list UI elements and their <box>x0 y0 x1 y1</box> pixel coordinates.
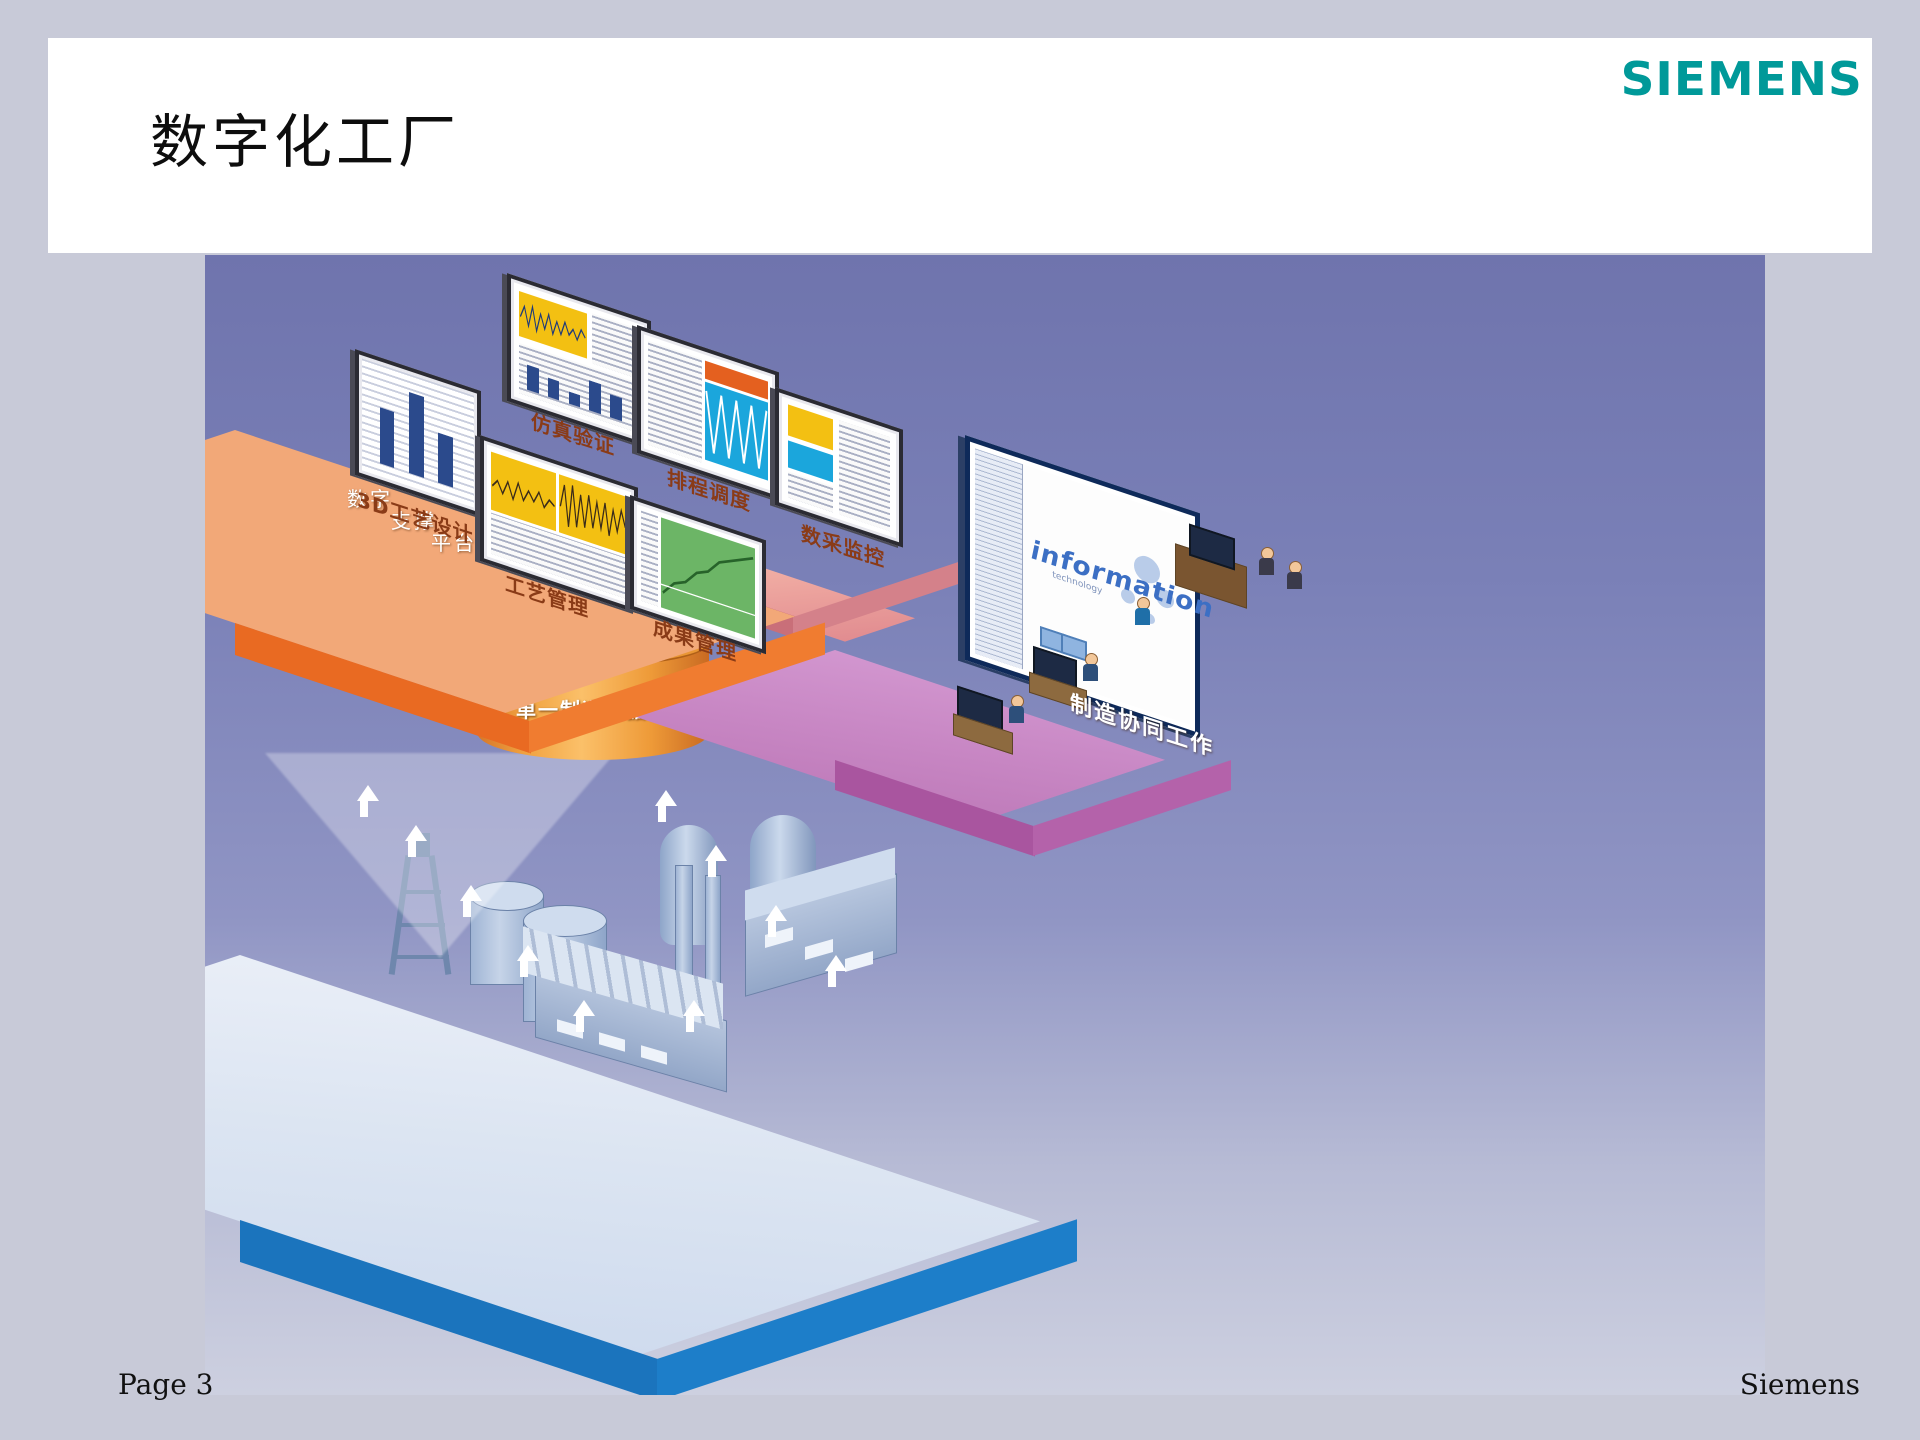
flow-arrow-up-6 <box>655 790 677 806</box>
bar-2 <box>409 392 424 477</box>
flow-arrow-up-3 <box>460 885 482 901</box>
page-title: 数字化工厂 <box>150 95 460 179</box>
person-5-body <box>1287 572 1302 589</box>
flow-arrow-up-2 <box>405 825 427 841</box>
sim-bar-2 <box>548 378 560 400</box>
big-monitor-screen: information technology <box>975 448 1190 725</box>
light-cone-lower <box>265 753 615 958</box>
siemens-logo: SIEMENS <box>1620 52 1862 106</box>
sim-bar-4 <box>589 380 601 414</box>
screen-data-monitoring[interactable] <box>775 387 903 548</box>
flow-arrow-up-9-stem <box>828 971 836 987</box>
flow-arrow-up-4 <box>517 945 539 961</box>
flow-arrow-up-7-stem <box>708 861 716 877</box>
flow-arrow-up-9 <box>825 955 847 971</box>
bar-3 <box>438 433 453 487</box>
flow-arrow-up-4-stem <box>520 961 528 977</box>
flow-arrow-up-5-stem <box>576 1016 584 1032</box>
person-3-body <box>1135 608 1150 625</box>
flow-arrow-up-2-stem <box>408 841 416 857</box>
flow-arrow-up-1 <box>357 785 379 801</box>
flow-arrow-up-8 <box>765 905 787 921</box>
flow-arrow-up-10-stem <box>686 1016 694 1032</box>
footer-brand: Siemens <box>1740 1368 1860 1401</box>
flow-arrow-up-5 <box>573 1000 595 1016</box>
flow-arrow-up-6-stem <box>658 806 666 822</box>
sim-bar-1 <box>527 364 539 393</box>
slide-root: 数字化工厂 SIEMENS <box>0 0 1920 1440</box>
person-4-body <box>1259 558 1274 575</box>
person-1-body <box>1009 706 1024 723</box>
screen-data-monitoring-content <box>782 396 896 538</box>
mon-right-sheet <box>839 420 890 531</box>
digital-factory-figure: 单一制造数据源 information technology <box>205 255 1765 1395</box>
big-monitor-sidebar <box>975 448 1023 669</box>
footer-page-number: Page 3 <box>118 1368 213 1401</box>
bar-1 <box>380 407 395 468</box>
flow-arrow-up-10 <box>683 1000 705 1016</box>
flow-arrow-up-8-stem <box>768 921 776 937</box>
flow-arrow-up-1-stem <box>360 801 368 817</box>
sched-chart-panel <box>705 382 768 480</box>
qual-left-sheet <box>641 511 658 607</box>
flow-arrow-up-3-stem <box>463 901 471 917</box>
sim-bar-5 <box>610 394 622 421</box>
sched-left-sheet <box>648 340 702 463</box>
flow-arrow-up-7 <box>705 845 727 861</box>
screen-scheduling-content <box>644 334 772 491</box>
person-2-body <box>1083 664 1098 681</box>
